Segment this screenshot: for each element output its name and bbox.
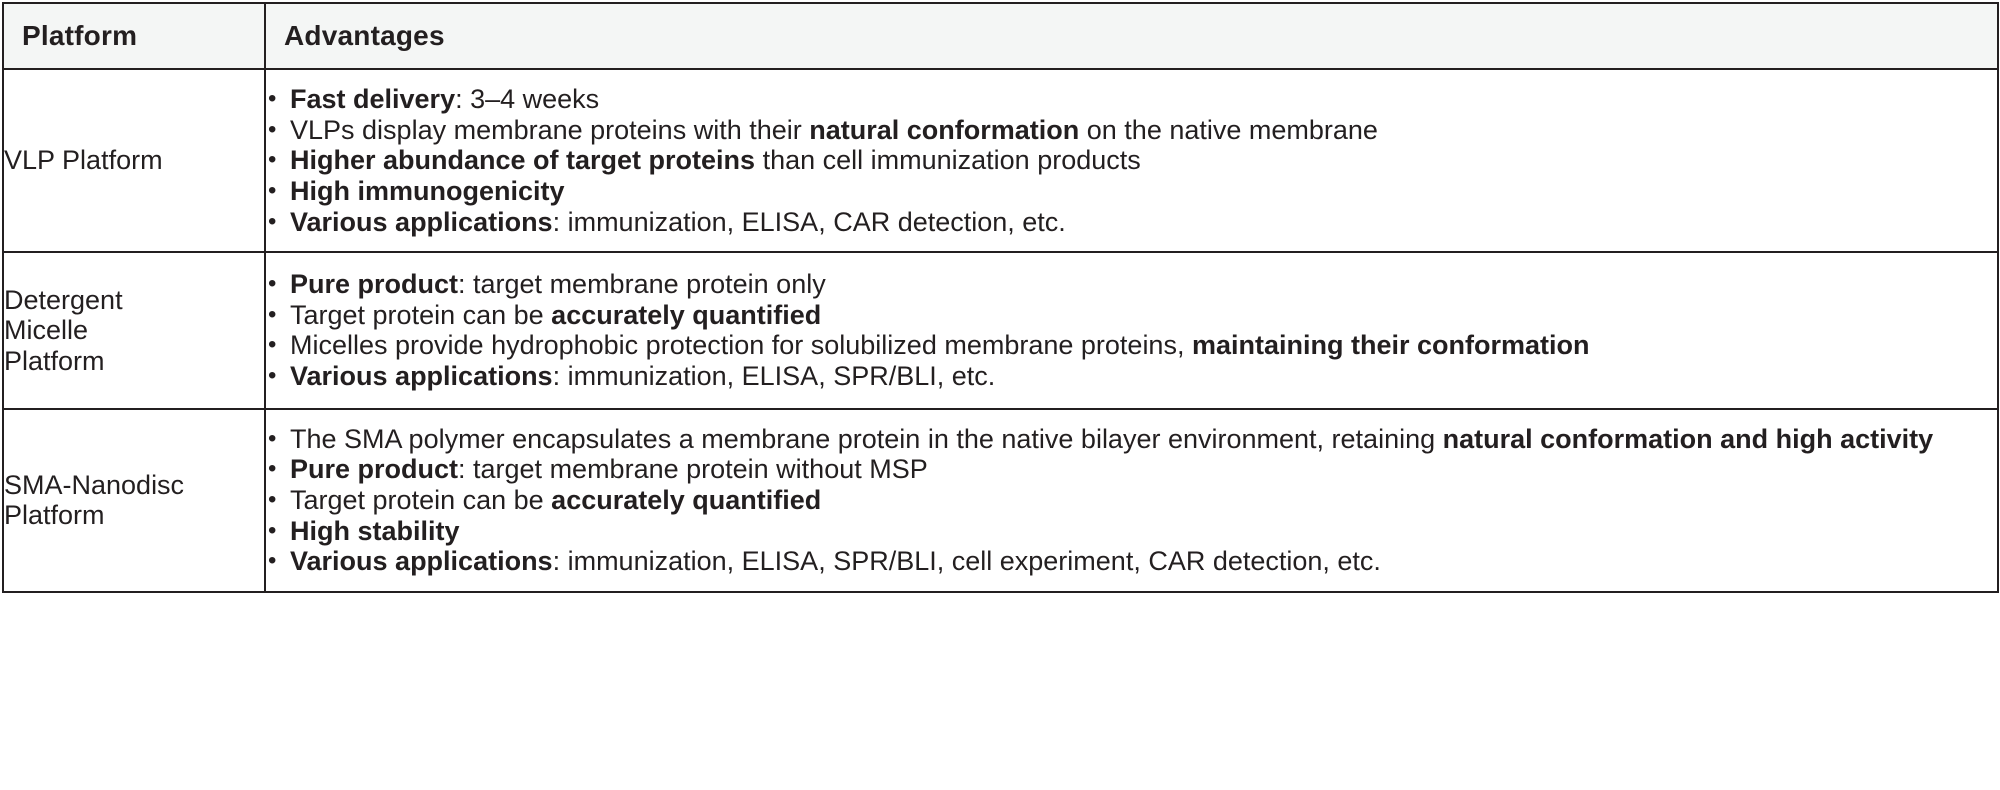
- list-item: Various applications: immunization, ELIS…: [266, 207, 1997, 238]
- advantage-bold-mid: accurately quantified: [551, 300, 821, 330]
- advantage-rest: than cell immunization products: [755, 145, 1141, 175]
- platform-name-cell: VLP Platform: [3, 69, 265, 252]
- advantage-plain-lead: Target protein can be: [290, 300, 551, 330]
- advantages-cell: Fast delivery: 3–4 weeks VLPs display me…: [265, 69, 1998, 252]
- table-row: SMA-Nanodisc Platform The SMA polymer en…: [3, 409, 1998, 592]
- advantage-plain-lead: VLPs display membrane proteins with thei…: [290, 115, 809, 145]
- advantage-plain-lead: Micelles provide hydrophobic protection …: [290, 330, 1192, 360]
- advantage-bold-mid: natural conformation and high activity: [1443, 424, 1934, 454]
- advantage-bold-lead: Fast delivery: [290, 84, 455, 114]
- platform-name-sma-nanodisc: SMA-Nanodisc Platform: [4, 470, 264, 531]
- list-item: Pure product: target membrane protein wi…: [266, 454, 1997, 485]
- advantages-list-detergent-micelle: Pure product: target membrane protein on…: [266, 269, 1997, 392]
- platform-name-vlp: VLP Platform: [4, 145, 264, 176]
- column-header-platform: Platform: [3, 3, 265, 69]
- advantage-bold-mid: accurately quantified: [551, 485, 821, 515]
- column-header-platform-label: Platform: [4, 20, 137, 51]
- advantage-rest: : immunization, ELISA, SPR/BLI, cell exp…: [553, 546, 1381, 576]
- advantages-list-vlp: Fast delivery: 3–4 weeks VLPs display me…: [266, 84, 1997, 237]
- advantage-bold-lead: High stability: [290, 516, 460, 546]
- list-item: Target protein can be accurately quantif…: [266, 300, 1997, 331]
- advantage-rest: : immunization, ELISA, CAR detection, et…: [553, 207, 1066, 237]
- table-container: Platform Advantages VLP Platform Fast de…: [0, 0, 2000, 790]
- advantage-rest: : target membrane protein only: [458, 269, 826, 299]
- column-header-advantages: Advantages: [265, 3, 1998, 69]
- list-item: VLPs display membrane proteins with thei…: [266, 115, 1997, 146]
- advantage-rest: on the native membrane: [1079, 115, 1378, 145]
- platform-name-cell: SMA-Nanodisc Platform: [3, 409, 265, 592]
- list-item: Target protein can be accurately quantif…: [266, 485, 1997, 516]
- column-header-advantages-label: Advantages: [266, 20, 445, 51]
- list-item: High immunogenicity: [266, 176, 1997, 207]
- table-row: Detergent Micelle Platform Pure product:…: [3, 252, 1998, 409]
- list-item: Various applications: immunization, ELIS…: [266, 361, 1997, 392]
- list-item: Higher abundance of target proteins than…: [266, 145, 1997, 176]
- table-row: VLP Platform Fast delivery: 3–4 weeks VL…: [3, 69, 1998, 252]
- platform-name-cell: Detergent Micelle Platform: [3, 252, 265, 409]
- list-item: Pure product: target membrane protein on…: [266, 269, 1997, 300]
- advantage-bold-lead: High immunogenicity: [290, 176, 565, 206]
- advantage-plain-lead: Target protein can be: [290, 485, 551, 515]
- list-item: Micelles provide hydrophobic protection …: [266, 330, 1997, 361]
- advantage-rest: : immunization, ELISA, SPR/BLI, etc.: [553, 361, 996, 391]
- advantage-bold-lead: Various applications: [290, 546, 553, 576]
- advantage-bold-lead: Pure product: [290, 269, 458, 299]
- list-item: The SMA polymer encapsulates a membrane …: [266, 424, 1997, 455]
- platform-advantages-table: Platform Advantages VLP Platform Fast de…: [2, 2, 1999, 593]
- advantage-bold-mid: natural conformation: [809, 115, 1079, 145]
- advantage-rest: : 3–4 weeks: [455, 84, 599, 114]
- advantage-rest: : target membrane protein without MSP: [458, 454, 928, 484]
- advantage-bold-lead: Pure product: [290, 454, 458, 484]
- advantages-list-sma-nanodisc: The SMA polymer encapsulates a membrane …: [266, 424, 1997, 577]
- table-header-row: Platform Advantages: [3, 3, 1998, 69]
- advantage-plain-lead: The SMA polymer encapsulates a membrane …: [290, 424, 1443, 454]
- advantages-cell: Pure product: target membrane protein on…: [265, 252, 1998, 409]
- advantage-bold-mid: maintaining their conformation: [1192, 330, 1590, 360]
- advantages-cell: The SMA polymer encapsulates a membrane …: [265, 409, 1998, 592]
- table-body: VLP Platform Fast delivery: 3–4 weeks VL…: [3, 69, 1998, 592]
- advantage-bold-lead: Various applications: [290, 207, 553, 237]
- table-head: Platform Advantages: [3, 3, 1998, 69]
- list-item: Fast delivery: 3–4 weeks: [266, 84, 1997, 115]
- list-item: Various applications: immunization, ELIS…: [266, 546, 1997, 577]
- advantage-bold-lead: Various applications: [290, 361, 553, 391]
- advantage-bold-lead: Higher abundance of target proteins: [290, 145, 755, 175]
- list-item: High stability: [266, 516, 1997, 547]
- platform-name-detergent-micelle: Detergent Micelle Platform: [4, 285, 264, 377]
